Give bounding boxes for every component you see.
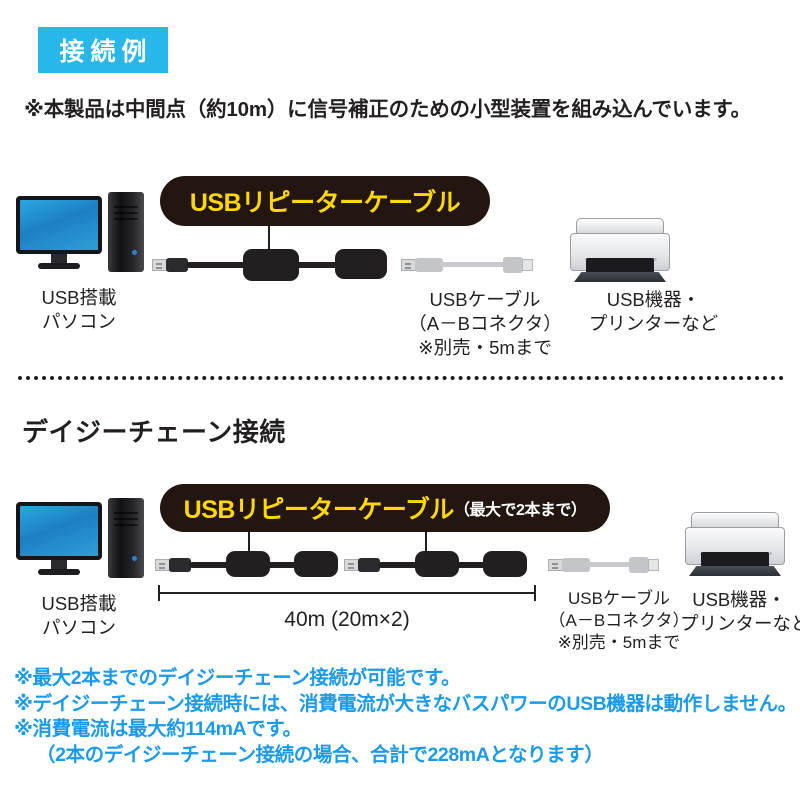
repeater-cable-banner-1: USBリピーターケーブル bbox=[160, 176, 490, 226]
repeater2b-wire-seg-1 bbox=[378, 562, 420, 568]
section-badge: 接続例 bbox=[38, 27, 168, 73]
printer-lid bbox=[576, 218, 664, 234]
usb-a-housing bbox=[358, 558, 380, 572]
device-label-line1: USB機器・ bbox=[566, 288, 741, 312]
repeater-box-a-1 bbox=[243, 249, 299, 281]
usb-cable-wire-1 bbox=[440, 262, 506, 267]
footnote-3: ※消費電流は最大約114mAです。 bbox=[14, 717, 794, 743]
repeater2b-box-a bbox=[415, 551, 459, 577]
usb-cable-label-line1: USBケーブル bbox=[545, 588, 693, 610]
device-label-line1: USB機器・ bbox=[680, 588, 798, 612]
usb-b-plug-2 bbox=[629, 557, 659, 573]
usb-cable-label-line1: USBケーブル bbox=[400, 288, 570, 312]
footnote-4: （2本のデイジーチェーン接続の場合、合計で228mAとなります） bbox=[14, 743, 794, 769]
usb-a-plug-black-2b bbox=[344, 558, 378, 572]
printer-lid bbox=[691, 512, 779, 528]
usb-a-metal-shell-icon bbox=[155, 559, 170, 571]
usb-a-plug-gray-1 bbox=[401, 258, 435, 272]
printer-front-panel bbox=[701, 552, 769, 568]
pc-tower bbox=[108, 192, 144, 272]
monitor-base bbox=[38, 263, 80, 269]
usb-cable-wire-2 bbox=[586, 562, 632, 567]
device-label-line2: プリンターなど bbox=[680, 612, 798, 636]
device-label-2: USB機器・ プリンターなど bbox=[680, 588, 798, 636]
printer-output-tray bbox=[574, 272, 666, 282]
usb-b-plug-1 bbox=[503, 257, 533, 273]
device-label-line2: プリンターなど bbox=[566, 312, 741, 336]
pc-tower bbox=[108, 498, 144, 578]
repeater-cable-banner-2-sublabel: （最大で2本まで） bbox=[454, 496, 586, 520]
usb-a-plug-black-2a bbox=[155, 558, 189, 572]
pc-label-line1: USB搭載 bbox=[16, 592, 142, 616]
pc-illustration-1 bbox=[16, 196, 146, 272]
repeater2a-wire-seg-1 bbox=[189, 562, 231, 568]
usb-a-plug-gray-2 bbox=[548, 558, 582, 572]
section-badge-label: 接続例 bbox=[53, 32, 152, 68]
printer-illustration-1 bbox=[570, 218, 670, 284]
usb-b-metal-shell-icon bbox=[648, 559, 659, 571]
pc-label-line1: USB搭載 bbox=[16, 286, 142, 310]
device-label-1: USB機器・ プリンターなど bbox=[566, 288, 741, 336]
usb-cable-label-line3: ※別売・5mまで bbox=[545, 632, 693, 654]
pc-label-line2: パソコン bbox=[16, 310, 142, 334]
usb-cable-label-line3: ※別売・5mまで bbox=[400, 336, 570, 360]
tower-slot-icon bbox=[114, 518, 138, 520]
usb-b-metal-shell-icon bbox=[522, 259, 533, 271]
tower-slot-icon bbox=[114, 524, 138, 526]
footnotes: ※最大2本までのデイジーチェーン接続が可能です。 ※デイジーチェーン接続時には、… bbox=[14, 666, 794, 769]
footnote-1: ※最大2本までのデイジーチェーン接続が可能です。 bbox=[14, 666, 794, 692]
tower-slot-icon bbox=[114, 218, 138, 220]
measure-label: 40m (20m×2) bbox=[158, 606, 536, 633]
pc-illustration-2 bbox=[16, 502, 146, 578]
pc-label-1: USB搭載 パソコン bbox=[16, 286, 142, 334]
pc-label-line2: パソコン bbox=[16, 616, 142, 640]
repeater-cable-banner-1-label: USBリピーターケーブル bbox=[190, 183, 460, 219]
repeater-cable-banner-2: USBリピーターケーブル（最大で2本まで） bbox=[160, 484, 610, 532]
section2-heading: デイジーチェーン接続 bbox=[22, 412, 286, 449]
usb-cable-label-1: USBケーブル （A－Bコネクタ） ※別売・5mまで bbox=[400, 288, 570, 360]
monitor-frame bbox=[16, 196, 102, 254]
usb-a-housing bbox=[166, 258, 188, 272]
power-led-icon bbox=[132, 250, 137, 255]
repeater2b-box-b bbox=[483, 551, 527, 577]
power-led-icon bbox=[132, 556, 137, 561]
measure-cap-left bbox=[158, 585, 160, 601]
printer-front-panel bbox=[586, 258, 654, 274]
printer-output-tray bbox=[689, 566, 781, 576]
measure-cap-right bbox=[534, 585, 536, 601]
usb-a-metal-shell-icon bbox=[344, 559, 359, 571]
usb-b-housing bbox=[503, 257, 523, 273]
header-note: ※本製品は中間点（約10m）に信号補正のための小型装置を組み込んでいます。 bbox=[24, 92, 751, 122]
repeater-cable-banner-2-label: USBリピーターケーブル bbox=[184, 490, 454, 526]
pc-label-2: USB搭載 パソコン bbox=[16, 592, 142, 640]
tower-slot-icon bbox=[114, 212, 138, 214]
monitor-screen bbox=[20, 506, 98, 556]
usb-b-housing bbox=[629, 557, 649, 573]
monitor-base bbox=[38, 569, 80, 575]
repeater-box-b-1 bbox=[335, 249, 387, 279]
printer-illustration-2 bbox=[685, 512, 785, 578]
usb-a-housing bbox=[415, 258, 443, 272]
usb-a-plug-black-1 bbox=[152, 258, 186, 272]
tower-slot-icon bbox=[114, 512, 138, 514]
repeater2a-box-a bbox=[226, 551, 270, 577]
section-divider bbox=[18, 376, 784, 380]
usb-cable-label-line2: （A－Bコネクタ） bbox=[400, 312, 570, 336]
tower-slot-icon bbox=[114, 206, 138, 208]
usb-cable-label-line2: （A－Bコネクタ） bbox=[545, 610, 693, 632]
usb-a-metal-shell-icon bbox=[152, 259, 167, 271]
measure-line bbox=[158, 592, 536, 594]
usb-a-metal-shell-icon bbox=[401, 259, 416, 271]
repeater2a-box-b bbox=[294, 551, 338, 577]
monitor-frame bbox=[16, 502, 102, 560]
footnote-2: ※デイジーチェーン接続時には、消費電流が大きなバスパワーのUSB機器は動作しませ… bbox=[14, 692, 794, 718]
usb-cable-label-2: USBケーブル （A－Bコネクタ） ※別売・5mまで bbox=[545, 588, 693, 654]
usb-a-housing bbox=[169, 558, 191, 572]
monitor-screen bbox=[20, 200, 98, 250]
usb-a-metal-shell-icon bbox=[548, 559, 563, 571]
